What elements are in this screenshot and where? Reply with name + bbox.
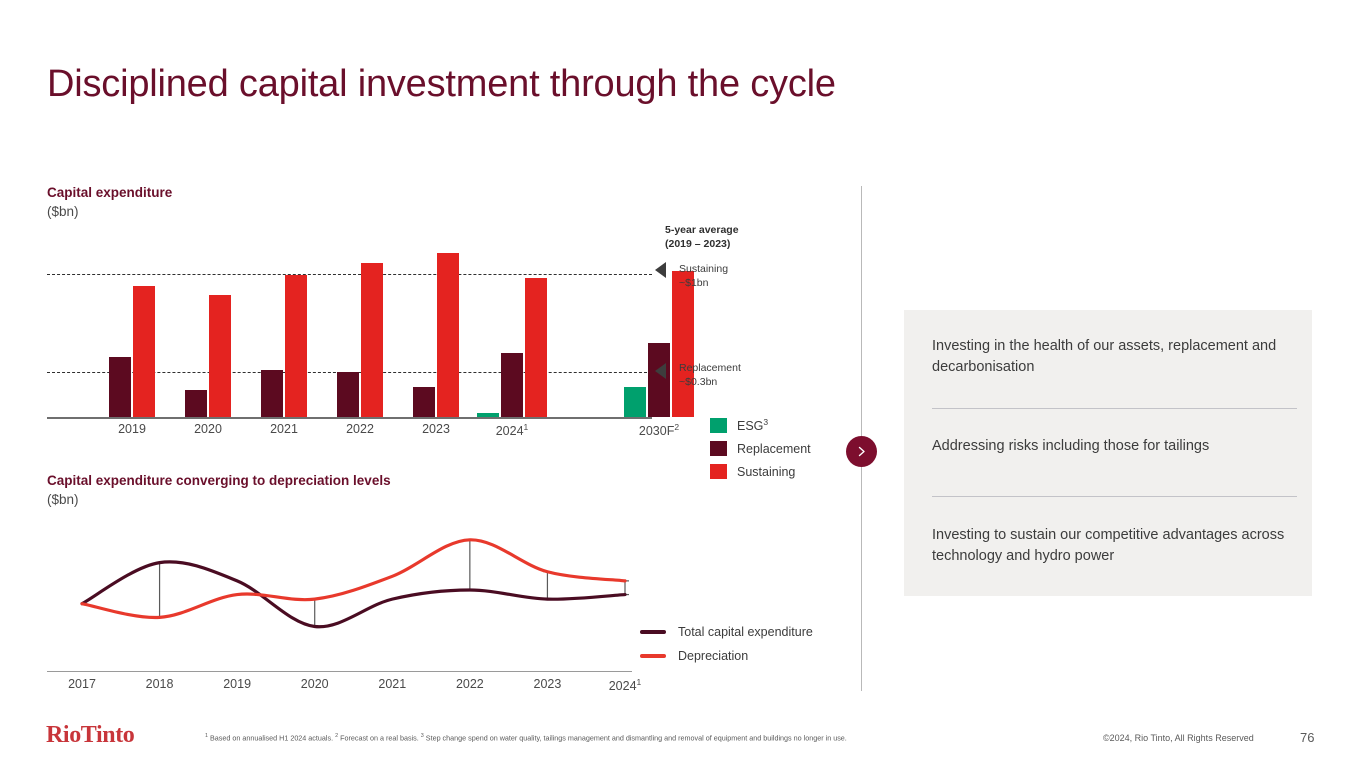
line-legend-item-total-capital-expenditure[interactable]: Total capital expenditure <box>640 620 813 644</box>
bar-x-label-2020: 2020 <box>194 422 222 436</box>
slide-root: Disciplined capital investment through t… <box>0 0 1365 768</box>
panel-divider-2 <box>932 496 1297 497</box>
bar-replacement-2024 <box>501 353 523 417</box>
line-legend-label: Depreciation <box>678 649 748 663</box>
line-chart-x-axis <box>47 671 632 672</box>
line-chart-legend: Total capital expenditureDepreciation <box>640 620 813 668</box>
bar-replacement-2023 <box>413 387 435 417</box>
bar-x-label-2030F: 2030F2 <box>639 422 679 438</box>
legend-swatch-icon <box>710 418 727 433</box>
panel-item-3: Investing to sustain our competitive adv… <box>932 525 1297 567</box>
bar-x-label-2022: 2022 <box>346 422 374 436</box>
copyright-text: ©2024, Rio Tinto, All Rights Reserved <box>1103 733 1254 743</box>
line-x-label-2018: 2018 <box>146 677 174 691</box>
page-number: 76 <box>1300 730 1314 745</box>
bar-chart-legend: ESG3ReplacementSustaining <box>710 414 811 483</box>
avg-heading-line1: 5-year average <box>665 224 739 238</box>
line-legend-label: Total capital expenditure <box>678 625 813 639</box>
bar-sustaining-2024 <box>525 278 547 417</box>
bar-sustaining-2021 <box>285 275 307 417</box>
line-x-label-2022: 2022 <box>456 677 484 691</box>
bar-sustaining-2019 <box>133 286 155 417</box>
sustaining-annotation-line1: Sustaining <box>679 263 728 277</box>
bar-chart-x-axis <box>47 417 652 419</box>
footnote: 1 Based on annualised H1 2024 actuals. 2… <box>205 733 847 742</box>
rio-tinto-logo: RioTinto <box>46 722 134 749</box>
replacement-pointer-icon <box>655 363 666 379</box>
capex-chart-units: ($bn) <box>47 203 172 221</box>
bar-chart-plot-area <box>47 240 652 417</box>
bar-replacement-2022 <box>337 372 359 417</box>
legend-swatch-icon <box>710 441 727 456</box>
bar-sustaining-2030 <box>672 271 694 417</box>
sustaining-annotation-line2: ~$1bn <box>679 277 728 291</box>
legend-label: Replacement <box>737 442 811 456</box>
line-chart-svg <box>47 505 647 675</box>
replacement-annotation: Replacement ~$0.3bn <box>679 362 741 389</box>
sustaining-annotation: Sustaining ~$1bn <box>679 263 728 290</box>
five-year-average-heading: 5-year average (2019 – 2023) <box>665 224 739 251</box>
page-title: Disciplined capital investment through t… <box>47 58 836 110</box>
highlights-panel: Investing in the health of our assets, r… <box>904 310 1312 596</box>
capex-chart-header: Capital expenditure ($bn) <box>47 184 172 221</box>
panel-item-1: Investing in the health of our assets, r… <box>932 336 1297 378</box>
panel-divider-1 <box>932 408 1297 409</box>
panel-item-2: Addressing risks including those for tai… <box>932 436 1297 457</box>
bar-chart-x-labels: 20192020202120222023202412030F2 <box>47 422 652 442</box>
line-chart-title: Capital expenditure converging to deprec… <box>47 472 391 489</box>
line-legend-swatch-icon <box>640 654 666 658</box>
legend-item-replacement[interactable]: Replacement <box>710 437 811 460</box>
bar-x-label-2023: 2023 <box>422 422 450 436</box>
capex-chart-title: Capital expenditure <box>47 184 172 201</box>
legend-swatch-icon <box>710 464 727 479</box>
bar-replacement-2019 <box>109 357 131 417</box>
bar-esg-2030 <box>624 387 646 417</box>
line-x-label-2023: 2023 <box>534 677 562 691</box>
avg-heading-line2: (2019 – 2023) <box>665 238 739 252</box>
reference-line-sustaining <box>47 274 652 275</box>
legend-item-sustaining[interactable]: Sustaining <box>710 460 811 483</box>
line-series-depreciation <box>82 540 625 618</box>
legend-item-esg[interactable]: ESG3 <box>710 414 811 437</box>
bar-x-label-2019: 2019 <box>118 422 146 436</box>
line-chart-header: Capital expenditure converging to deprec… <box>47 472 391 509</box>
sustaining-pointer-icon <box>655 262 666 278</box>
legend-label: ESG3 <box>737 417 768 433</box>
bar-sustaining-2020 <box>209 295 231 417</box>
line-chart-x-labels: 201720182019202020212022202320241 <box>47 677 632 697</box>
chevron-right-icon <box>855 445 868 458</box>
bar-replacement-2020 <box>185 390 207 417</box>
bar-x-label-2021: 2021 <box>270 422 298 436</box>
bar-replacement-2021 <box>261 370 283 417</box>
bar-replacement-2030 <box>648 343 670 417</box>
line-x-label-2020: 2020 <box>301 677 329 691</box>
chevron-right-button[interactable] <box>846 436 877 467</box>
line-legend-swatch-icon <box>640 630 666 634</box>
line-x-label-2024: 20241 <box>609 677 642 693</box>
line-x-label-2021: 2021 <box>378 677 406 691</box>
line-x-label-2017: 2017 <box>68 677 96 691</box>
replacement-annotation-line2: ~$0.3bn <box>679 376 741 390</box>
replacement-annotation-line1: Replacement <box>679 362 741 376</box>
bar-x-label-2024: 20241 <box>496 422 529 438</box>
capex-bar-chart: 20192020202120222023202412030F2 <box>47 240 652 420</box>
legend-label: Sustaining <box>737 465 795 479</box>
depreciation-line-chart: 201720182019202020212022202320241 <box>47 505 647 685</box>
line-legend-item-depreciation[interactable]: Depreciation <box>640 644 813 668</box>
bar-sustaining-2022 <box>361 263 383 417</box>
line-x-label-2019: 2019 <box>223 677 251 691</box>
bar-sustaining-2023 <box>437 253 459 417</box>
